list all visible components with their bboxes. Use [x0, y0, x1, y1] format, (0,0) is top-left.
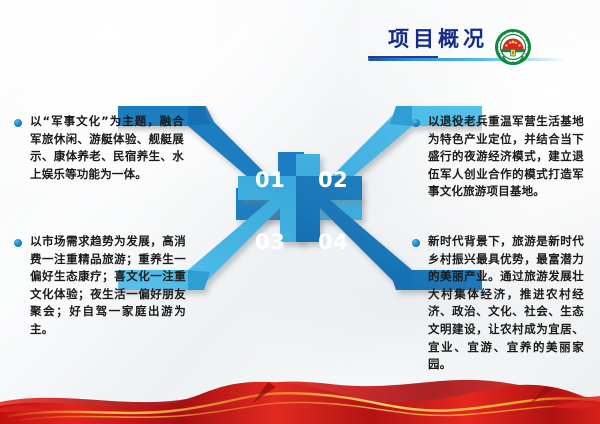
slide-canvas: 项目概况 [0, 0, 600, 424]
content-block-bottom-right: 新时代背景下，旅游是新时代乡村振兴最具优势，最富潜力的美丽产业。通过旅游发展壮大… [412, 233, 584, 374]
bullet-icon [412, 119, 420, 127]
content-block-top-left: 以“军事文化”为主题，融合军旅休闲、游艇体验、舰艇展示、康体养老、民宿养生、水上… [14, 113, 184, 183]
bullet-icon [412, 239, 420, 247]
arrow-number-01: 01 [255, 170, 285, 191]
arrow-number-02: 02 [318, 170, 348, 191]
title-underline [368, 58, 566, 61]
bullet-icon [14, 119, 22, 127]
slide-header: 项目概况 [366, 22, 574, 70]
arrow-number-03: 03 [255, 232, 285, 253]
content-text: 以退役老兵重温军营生活基地为特色产业定位，并结合当下盛行的夜游经济模式，建立退伍… [428, 113, 584, 201]
arrow-number-04: 04 [318, 232, 348, 253]
content-text: 以市场需求趋势为发展，高消费一注重精品旅游；重养生一偏好生态康疗；喜文化一注重文… [30, 233, 186, 339]
content-text: 新时代背景下，旅游是新时代乡村振兴最具优势，最富潜力的美丽产业。通过旅游发展壮大… [428, 233, 584, 374]
red-ribbon-banner [0, 360, 600, 424]
content-block-top-right: 以退役老兵重温军营生活基地为特色产业定位，并结合当下盛行的夜游经济模式，建立退伍… [412, 113, 584, 201]
content-text: 以“军事文化”为主题，融合军旅休闲、游艇体验、舰艇展示、康体养老、民宿养生、水上… [30, 113, 184, 183]
organization-emblem-icon [495, 29, 531, 65]
content-block-bottom-left: 以市场需求趋势为发展，高消费一注重精品旅游；重养生一偏好生态康疗；喜文化一注重文… [14, 233, 186, 339]
page-title: 项目概况 [388, 24, 488, 54]
bullet-icon [14, 239, 22, 247]
